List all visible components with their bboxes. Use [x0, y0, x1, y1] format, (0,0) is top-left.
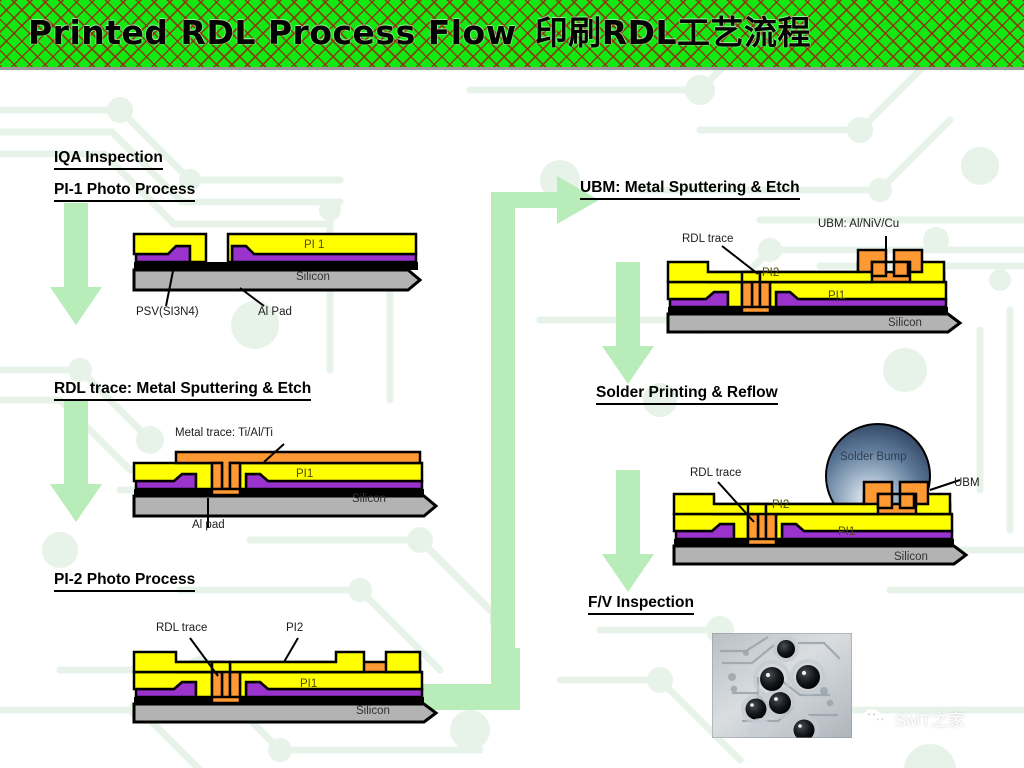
heading-pi2-photo-process: PI-2 Photo Process — [54, 571, 195, 592]
rdl-trace-label-solder: RDL trace — [690, 467, 741, 479]
heading-pi1-photo-process: PI-1 Photo Process — [54, 181, 195, 202]
page-title: Printed RDL Process Flow印刷RDL工艺流程 — [28, 6, 811, 54]
al-pad-label-pi1: Al Pad — [258, 306, 292, 318]
pi1-layer-label-pi2: PI1 — [300, 678, 317, 690]
al-pad-label-rdl: Al pad — [192, 519, 225, 531]
silicon-label-pi1: Silicon — [296, 271, 330, 283]
title-banner: Printed RDL Process Flow印刷RDL工艺流程 — [0, 0, 1024, 70]
pi1-layer-label: PI 1 — [304, 239, 324, 251]
silicon-label-solder: Silicon — [894, 551, 928, 563]
fv-inspection-photo — [712, 633, 852, 738]
flow-arrow-pi2-to-ubm — [485, 170, 605, 710]
flow-arrow-rdl-to-pi2 — [48, 400, 104, 525]
page-title-en: Printed RDL Process Flow — [28, 13, 517, 52]
pi1-layer-label-rdl: PI1 — [296, 468, 313, 480]
flow-arrow-pi1-to-rdl — [48, 203, 104, 328]
heading-solder-printing-reflow: Solder Printing & Reflow — [596, 384, 778, 405]
pi2-layer-label-solder: PI2 — [772, 499, 789, 511]
ubm-label-solder: UBM — [954, 477, 980, 489]
heading-fv-inspection: F/V Inspection — [588, 594, 694, 615]
flow-arrow-solder-to-fv — [600, 470, 656, 595]
leader-lines-ubm — [700, 228, 930, 288]
silicon-label-ubm: Silicon — [888, 317, 922, 329]
wechat-icon — [862, 708, 888, 730]
pi1-layer-label-ubm: PI1 — [828, 290, 845, 302]
ubm-material-label: UBM: Al/NiV/Cu — [818, 218, 899, 230]
pi2-layer-label-ubm: PI2 — [762, 267, 779, 279]
heading-rdl-trace-sputtering: RDL trace: Metal Sputtering & Etch — [54, 380, 311, 401]
heading-ubm-sputtering: UBM: Metal Sputtering & Etch — [580, 179, 800, 200]
psv-si3n4-label: PSV(SI3N4) — [136, 306, 199, 318]
watermark: SMT之家 — [862, 706, 965, 731]
slide-canvas: Printed RDL Process Flow印刷RDL工艺流程 IQA In… — [0, 0, 1024, 768]
heading-iqa-inspection: IQA Inspection — [54, 149, 163, 170]
silicon-label-rdl: Silicon — [352, 493, 386, 505]
metal-trace-label: Metal trace: Ti/Al/Ti — [175, 427, 273, 439]
solder-bump-label: Solder Bump — [840, 451, 906, 463]
rdl-trace-label-pi2: RDL trace — [156, 622, 207, 634]
pi2-label-pi2: PI2 — [286, 622, 303, 634]
watermark-text: SMT之家 — [895, 706, 965, 731]
flow-arrow-ubm-to-solder — [600, 262, 656, 387]
rdl-trace-label-ubm: RDL trace — [682, 233, 733, 245]
silicon-label-pi2: Silicon — [356, 705, 390, 717]
pi1-layer-label-solder: PI1 — [838, 526, 855, 538]
page-title-cn: 印刷RDL工艺流程 — [535, 13, 811, 52]
